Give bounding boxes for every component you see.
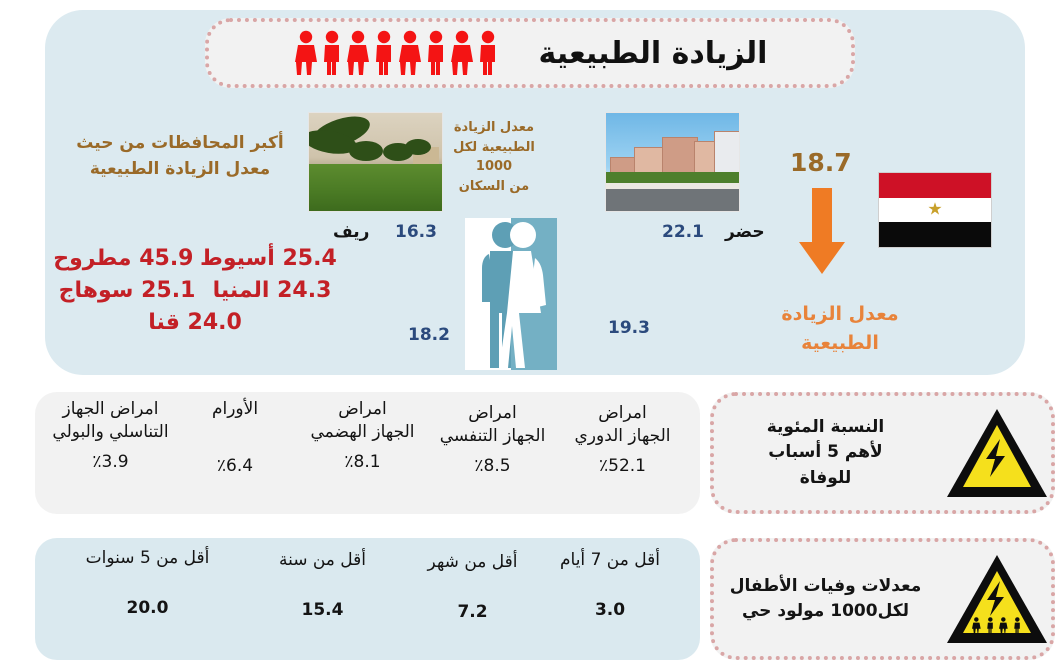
death-cause-item: امراض الجهاز التناسلي والبولي ٪3.9 xyxy=(38,398,183,474)
rate-caption-line2: الطبيعية لكل 1000 xyxy=(440,138,548,177)
people-group-icon xyxy=(293,30,505,76)
governorates-list: 25.4 أسيوط 45.9 مطروح 24.3 المنيا 25.1 س… xyxy=(50,243,340,339)
governorates-heading: أكبر المحافظات من حيث معدل الزيادة الطبي… xyxy=(60,130,300,183)
urban-photo xyxy=(605,112,740,212)
governorates-heading-line2: معدل الزيادة الطبيعية xyxy=(60,156,300,182)
death-cause-item: امراض الجهاز التنفسي ٪8.5 xyxy=(430,402,555,478)
rate-caption: معدل الزيادة الطبيعية لكل 1000 من السكان xyxy=(440,118,548,196)
child-mortality-item: أقل من 5 سنوات 20.0 xyxy=(65,548,230,618)
female-value: 18.2 xyxy=(408,325,450,345)
governorates-row: 24.0 قنا xyxy=(50,307,340,339)
governorate-item: 24.0 قنا xyxy=(148,307,242,339)
electrical-hazard-triangle-icon xyxy=(943,405,1051,501)
child-mortality-item: أقل من 7 أيام 3.0 xyxy=(535,550,685,620)
eagle-emblem-icon: ★ xyxy=(927,201,942,218)
rural-value: 16.3 xyxy=(395,222,437,242)
national-rate-label-line1: معدل الزيادة xyxy=(770,300,910,329)
death-cause-item: امراض الجهاز الهضمي ٪8.1 xyxy=(300,398,425,474)
governorate-item: 25.4 أسيوط xyxy=(200,243,337,275)
male-value: 19.3 xyxy=(608,318,650,338)
egypt-flag-icon: ★ xyxy=(878,172,992,248)
child-mortality-item: أقل من سنة 15.4 xyxy=(250,550,395,620)
rural-photo xyxy=(308,112,443,212)
child-mortality-value: 3.0 xyxy=(535,600,685,620)
national-rate-value: 18.7 xyxy=(790,148,852,177)
national-rate-label: معدل الزيادة الطبيعية xyxy=(770,300,910,357)
death-cause-item: الأورام ٪6.4 xyxy=(180,398,290,478)
death-cause-percent: ٪6.4 xyxy=(180,455,290,478)
governorates-row: 25.4 أسيوط 45.9 مطروح xyxy=(50,243,340,275)
governorate-item: 25.1 سوهاج xyxy=(59,275,196,307)
child-mortality-value: 7.2 xyxy=(400,602,545,622)
death-cause-percent: ٪3.9 xyxy=(38,451,183,474)
national-rate-label-line2: الطبيعية xyxy=(770,329,910,358)
urban-label: حضر xyxy=(725,222,765,242)
death-cause-item: امراض الجهاز الدوري ٪52.1 xyxy=(560,402,685,478)
title-card: الزيادة الطبيعية xyxy=(205,18,855,88)
governorate-item: 45.9 مطروح xyxy=(53,243,193,275)
urban-value: 22.1 xyxy=(662,222,704,242)
death-cause-percent: ٪52.1 xyxy=(560,455,685,478)
rate-caption-line1: معدل الزيادة xyxy=(440,118,548,138)
death-cause-percent: ٪8.1 xyxy=(300,451,425,474)
children-hazard-triangle-icon xyxy=(943,551,1051,647)
death-causes-callout: النسبة المئوية لأهم 5 أسباب للوفاة xyxy=(710,392,1055,514)
child-mortality-callout-text: معدلات وفيات الأطفال لكل1000 مولود حي xyxy=(714,574,937,625)
rate-caption-line3: من السكان xyxy=(440,177,548,197)
governorates-heading-line1: أكبر المحافظات من حيث xyxy=(60,130,300,156)
child-mortality-value: 15.4 xyxy=(250,600,395,620)
male-female-pictogram xyxy=(465,218,557,370)
governorates-row: 24.3 المنيا 25.1 سوهاج xyxy=(50,275,340,307)
child-mortality-item: أقل من شهر 7.2 xyxy=(400,552,545,622)
death-cause-percent: ٪8.5 xyxy=(430,455,555,478)
page-title: الزيادة الطبيعية xyxy=(539,36,768,71)
down-arrow-icon xyxy=(798,188,846,278)
death-causes-callout-text: النسبة المئوية لأهم 5 أسباب للوفاة xyxy=(714,415,937,492)
child-mortality-value: 20.0 xyxy=(65,598,230,618)
governorate-item: 24.3 المنيا xyxy=(213,275,332,307)
rural-label: ريف xyxy=(333,222,369,242)
child-mortality-callout: معدلات وفيات الأطفال لكل1000 مولود حي xyxy=(710,538,1055,660)
